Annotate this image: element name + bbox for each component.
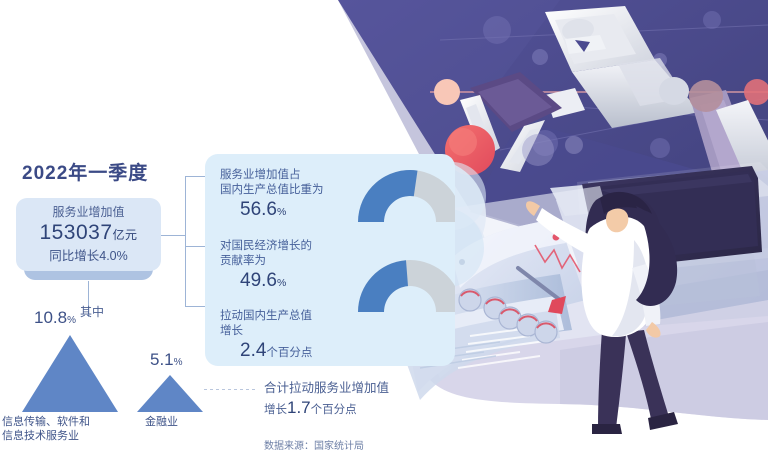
metric-1-value: 49.6% [220,269,312,295]
sector-value-1-number: 5.1 [150,350,174,369]
donut-chart-1 [350,252,455,318]
metric-1-number: 49.6 [240,270,277,291]
connector-spine [185,176,186,306]
branch-label: 其中 [80,303,104,320]
sector-label-1: 金融业 [145,415,178,429]
metric-0: 服务业增加值占 国内生产总值比重为 56.6% [220,168,324,224]
footer-note: 合计拉动服务业增加值 增长1.7个百分点 [264,379,389,420]
sector-label-0: 信息传输、软件和 信息技术服务业 [2,415,90,443]
kpi-value: 153037亿元 [39,220,137,248]
metric-2-value: 2.4个百分点 [220,339,312,365]
source-note: 数据来源：国家统计局 [264,437,364,452]
metric-2-caption: 拉动国内生产总值 增长 [220,309,312,339]
footer-note-prefix: 增长 [264,404,287,416]
footer-note-line2: 增长1.7个百分点 [264,398,389,420]
metric-2-unit: 个百分点 [266,347,312,359]
metric-1: 对国民经济增长的 贡献率为 49.6% [220,239,312,295]
footer-note-suffix: 个百分点 [311,404,357,416]
kpi-value-number: 153037 [39,221,112,244]
metric-0-unit: % [277,206,286,218]
metrics-panel: 服务业增加值占 国内生产总值比重为 56.6% 对国民经济增长的 贡献率为 49… [205,154,455,366]
infographic-canvas: 2022年一季度 服务业增加值 153037亿元 同比增长4.0% 其中 10.… [0,0,768,469]
connector-branch-1 [185,246,207,247]
metric-2: 拉动国内生产总值 增长 2.4个百分点 [220,309,312,365]
metric-0-value: 56.6% [220,198,324,224]
kpi-label: 服务业增加值 [52,205,124,220]
connector-stem [161,235,185,236]
sector-value-0-unit: % [67,315,76,326]
kpi-growth: 同比增长4.0% [49,248,128,264]
kpi-value-unit: 亿元 [113,228,138,242]
kpi-card: 服务业增加值 153037亿元 同比增长4.0% [16,198,161,271]
sector-triangle-0 [22,335,118,412]
sector-value-0: 10.8% [34,308,76,328]
sector-value-0-number: 10.8 [34,308,67,327]
donut-chart-0 [350,162,455,228]
metric-1-unit: % [277,277,286,289]
connector-branch-0 [185,176,207,177]
footer-note-line1: 合计拉动服务业增加值 [264,379,389,398]
page-title: 2022年一季度 [22,158,148,185]
footer-note-value: 1.7 [287,398,311,417]
sector-value-1-unit: % [174,357,183,368]
sector-triangle-1 [137,375,203,412]
connector-branch-2 [185,306,207,307]
metric-0-number: 56.6 [240,199,277,220]
dotted-connector [204,389,256,390]
metric-2-number: 2.4 [240,340,266,361]
metric-1-caption: 对国民经济增长的 贡献率为 [220,239,312,269]
metric-0-caption: 服务业增加值占 国内生产总值比重为 [220,168,324,198]
sector-value-1: 5.1% [150,350,183,370]
